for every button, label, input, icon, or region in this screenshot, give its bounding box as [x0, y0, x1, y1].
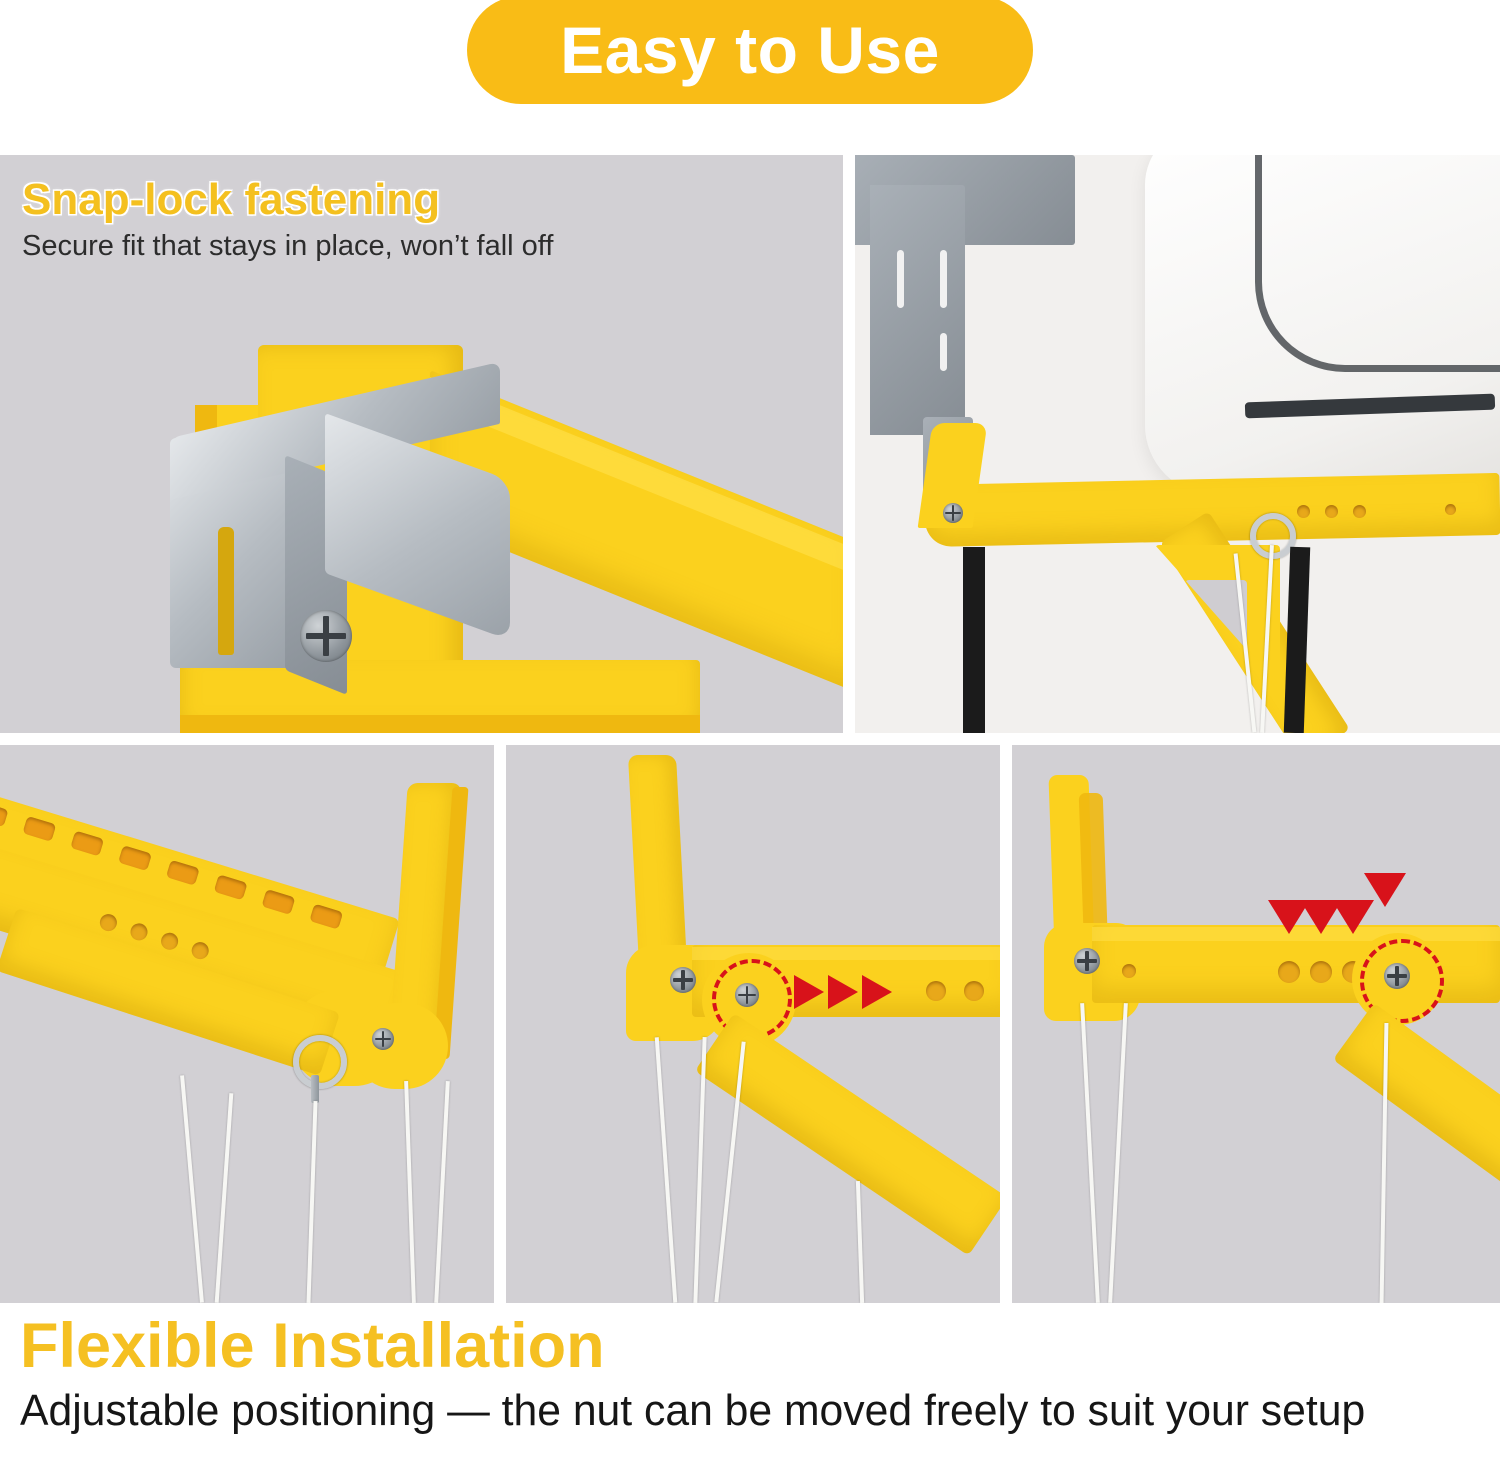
steel-u-clip-notch: [218, 527, 234, 655]
pivot-bolt: [372, 1028, 394, 1050]
panel-wall-install: [855, 155, 1500, 733]
cord-1: [1080, 1003, 1100, 1303]
footer-headline: Flexible Installation: [20, 1315, 1500, 1378]
ring-pin-shaft: [311, 1075, 319, 1103]
arm-hole-1: [1278, 961, 1300, 983]
cord-5: [434, 1081, 450, 1303]
direction-arrow-3: [862, 975, 892, 1009]
bracket-plate-slot-3: [940, 333, 947, 371]
cord-1: [180, 1075, 204, 1302]
ac-wall-bracket-vertical: [870, 185, 965, 435]
easy-to-use-badge: Easy to Use: [467, 0, 1033, 104]
panel-nut-slide: [506, 745, 1000, 1303]
direction-arrow-1: [794, 975, 824, 1009]
panel-snap-lock: Snap-lock fastening Secure fit that stay…: [0, 155, 843, 733]
ring-pin: [293, 1035, 347, 1089]
lower-diagonal-arm: [1333, 1003, 1500, 1189]
bracket-plate-slot-2: [940, 250, 947, 308]
arm-hole-1: [926, 981, 946, 1001]
badge-label: Easy to Use: [560, 17, 940, 83]
footer-block: Flexible Installation Adjustable positio…: [0, 1305, 1500, 1460]
cord-3: [306, 1101, 317, 1303]
cord-2: [1108, 1003, 1128, 1303]
panel-pivot-ring: [0, 745, 494, 1303]
footer-subtitle: Adjustable positioning — the nut can be …: [20, 1388, 1456, 1434]
pivot-hub-secondary: [352, 1003, 448, 1089]
arm-pivot-screw-left: [943, 503, 963, 523]
cord-2: [693, 1037, 706, 1303]
cord-4: [856, 1181, 864, 1303]
arm-hole-2: [964, 981, 984, 1001]
cord-1: [655, 1037, 678, 1303]
header-banner: Easy to Use: [0, 0, 1500, 112]
hinge-screw: [670, 967, 696, 993]
hole-arrow-4: [1364, 873, 1406, 907]
bracket-bottom-rail-edge: [180, 715, 700, 733]
panel-hole-select: [1012, 745, 1500, 1303]
arm-hole-3: [1353, 505, 1366, 518]
cord-4: [404, 1081, 416, 1303]
ac-front-bezel: [1255, 155, 1500, 372]
arm-hole-far-left: [1122, 964, 1136, 978]
cord-2: [215, 1093, 234, 1303]
snap-lock-caption-title: Snap-lock fastening: [22, 177, 553, 223]
bracket-plate-slot-1: [897, 250, 904, 308]
direction-arrow-2: [828, 975, 858, 1009]
panel-grid: Snap-lock fastening Secure fit that stay…: [0, 155, 1500, 1303]
arm-hole-2: [1310, 961, 1332, 983]
phillips-screw-upper: [300, 610, 352, 662]
hinge-screw: [1074, 948, 1100, 974]
arm-hole-4: [1445, 504, 1456, 515]
stand-leg-left: [963, 547, 985, 733]
arm-hole-2: [1325, 505, 1338, 518]
arm-hole-1: [1297, 505, 1310, 518]
snap-lock-caption-subtitle: Secure fit that stays in place, won’t fa…: [22, 229, 553, 264]
snap-lock-caption: Snap-lock fastening Secure fit that stay…: [22, 177, 553, 264]
